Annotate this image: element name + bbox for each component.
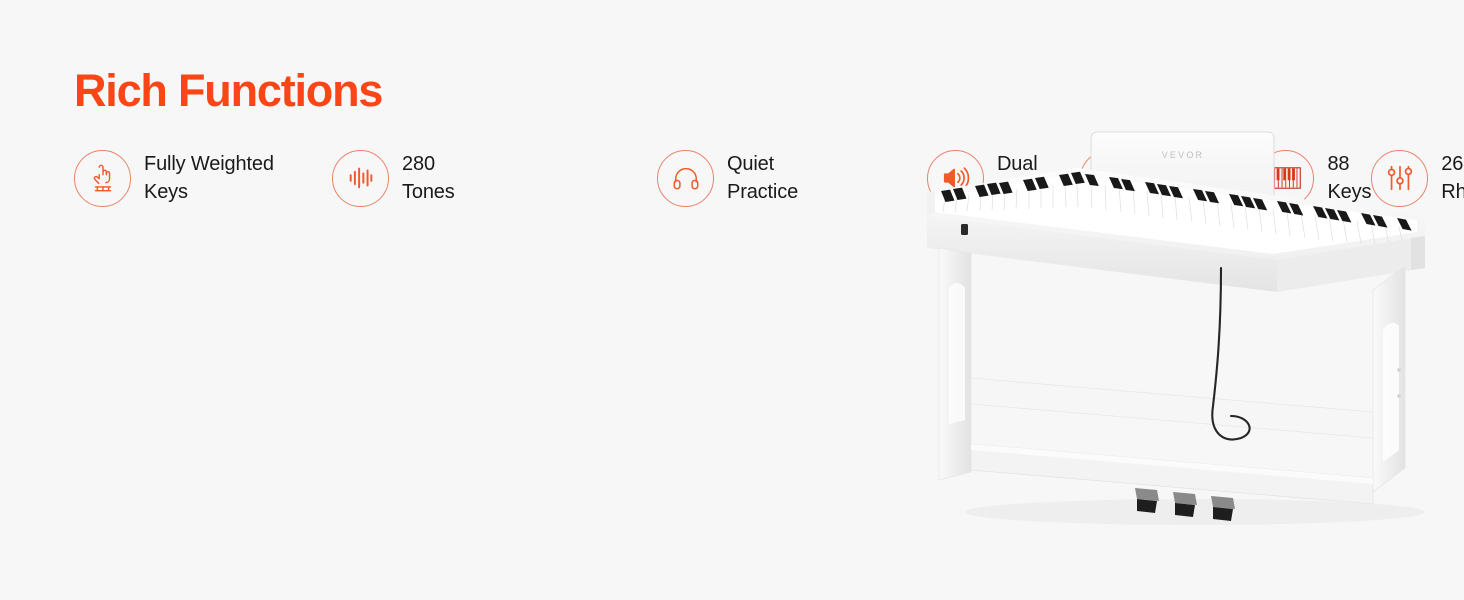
piano-stand: [939, 248, 1405, 504]
product-image: VEVOR: [905, 120, 1464, 540]
page-title: Rich Functions: [74, 68, 382, 113]
hand-press-keys-icon: [74, 150, 131, 207]
feature-label: Fully WeightedKeys: [144, 150, 274, 207]
feature-item: Fully WeightedKeys: [74, 143, 332, 214]
feature-grid: Fully WeightedKeys 280Tones QuietPractic…: [74, 143, 934, 214]
infographic-page: Rich Functions Fully WeightedKeys 280Ton…: [0, 0, 1464, 600]
feature-item: 280Tones: [332, 143, 657, 214]
svg-text:VEVOR: VEVOR: [1162, 150, 1205, 160]
feature-item: QuietPractice: [657, 143, 927, 214]
feature-label: 280Tones: [402, 150, 455, 207]
feature-label: QuietPractice: [727, 150, 798, 207]
headphones-icon: [657, 150, 714, 207]
sound-wave-icon: [332, 150, 389, 207]
keyboard-body: [927, 168, 1425, 292]
